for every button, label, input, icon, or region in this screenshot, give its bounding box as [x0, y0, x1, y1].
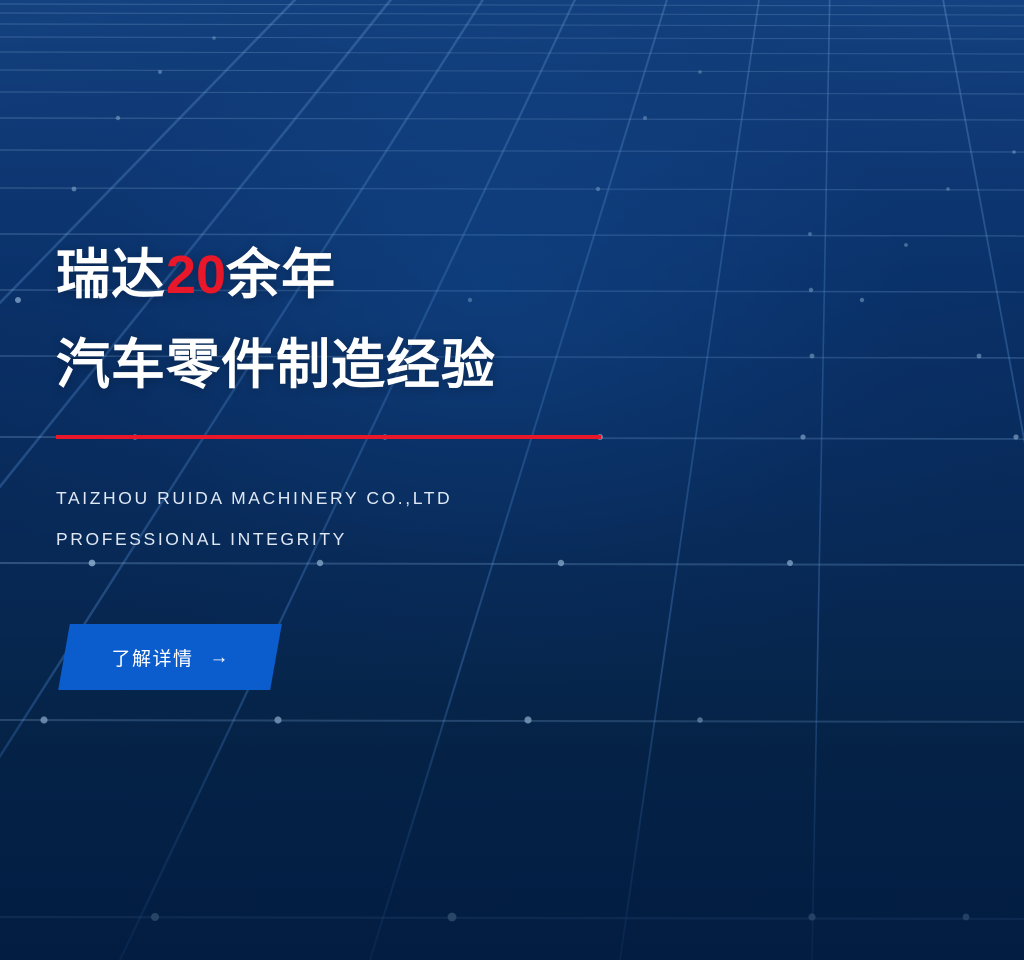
headline-line-1: 瑞达20余年: [56, 248, 336, 302]
headline-line-2: 汽车零件制造经验: [56, 338, 496, 392]
subtitle-line-2: PROFESSIONAL INTEGRITY: [56, 529, 347, 550]
headline-prefix: 瑞达: [56, 245, 166, 305]
learn-more-label: 了解详情: [111, 644, 193, 671]
arrow-right-icon: →: [210, 648, 229, 667]
subtitle-line-1: TAIZHOU RUIDA MACHINERY CO.,LTD: [56, 488, 452, 509]
hero-banner: 瑞达20余年 汽车零件制造经验 TAIZHOU RUIDA MACHINERY …: [0, 0, 1024, 960]
headline-suffix: 余年: [226, 245, 336, 305]
learn-more-button-inner: 了解详情 →: [64, 624, 276, 690]
learn-more-button[interactable]: 了解详情 →: [58, 624, 282, 690]
red-divider: [56, 435, 601, 439]
headline-number: 20: [166, 245, 226, 305]
hero-content: 瑞达20余年 汽车零件制造经验 TAIZHOU RUIDA MACHINERY …: [56, 0, 956, 960]
